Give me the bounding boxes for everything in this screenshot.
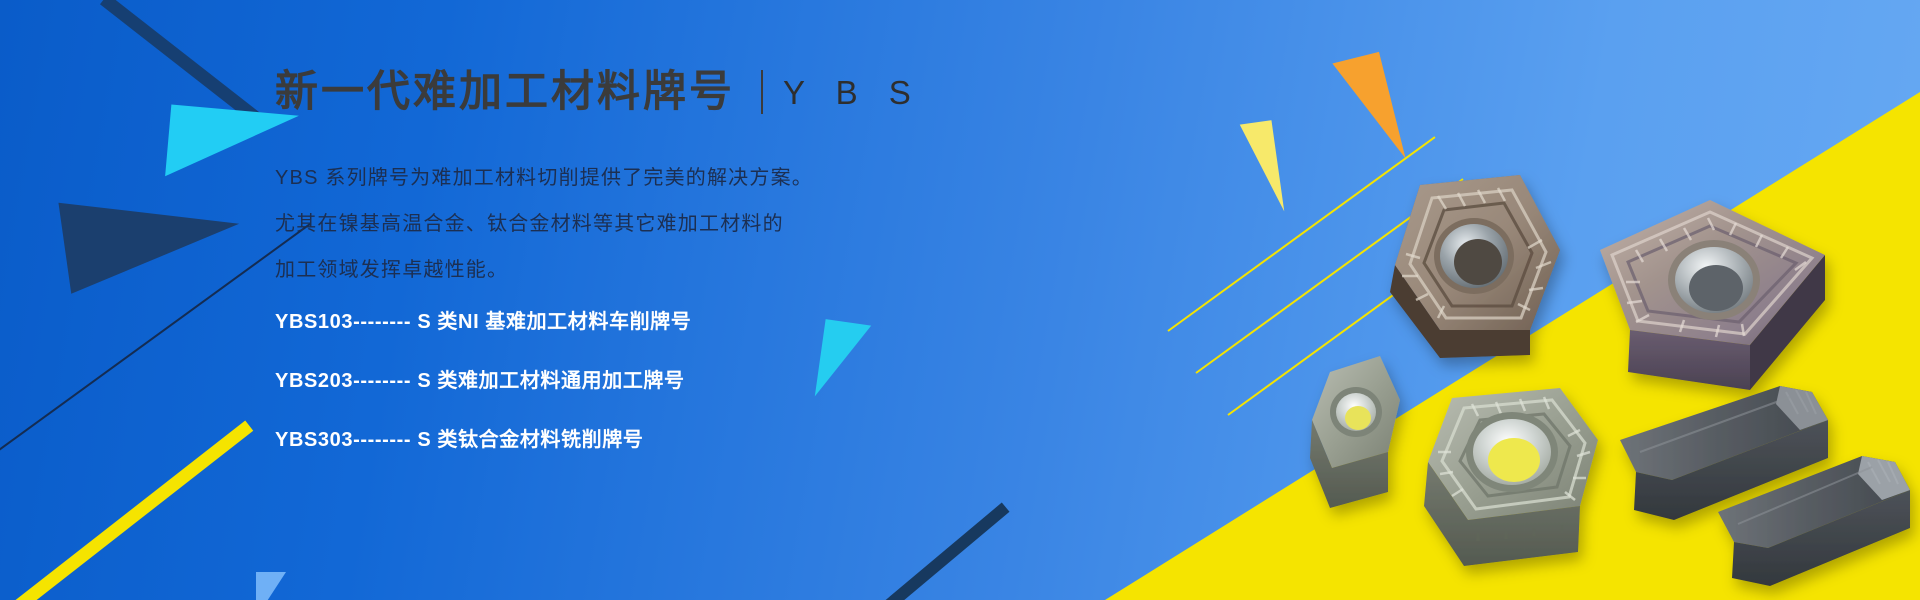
navy-triangle-left-icon — [58, 178, 245, 294]
yellow-hairline-3-icon — [1227, 238, 1471, 416]
pale-blue-sliver-bottom-left-icon — [256, 572, 286, 600]
grade-item-ybs103: YBS103-------- S 类NI 基难加工材料车削牌号 — [275, 305, 691, 334]
grade-list: YBS103-------- S 类NI 基难加工材料车削牌号 YBS203--… — [275, 305, 691, 482]
banner-paragraph: YBS 系列牌号为难加工材料切削提供了完美的解决方案。 尤其在镍基高温合金、钛合… — [275, 163, 813, 301]
navy-diagonal-bar-bottom-center-icon — [882, 503, 1009, 600]
orange-triangle-top-right-icon — [1332, 52, 1405, 170]
pale-yellow-triangle-right-icon — [1240, 120, 1284, 216]
cyan-triangle-center-icon — [815, 319, 871, 403]
promo-banner: 新一代难加工材料牌号 Y B S YBS 系列牌号为难加工材料切削提供了完美的解… — [0, 0, 1920, 600]
heading-ybs: Y B S — [783, 76, 922, 109]
banner-heading: 新一代难加工材料牌号 Y B S — [275, 70, 922, 114]
wnmg-trigon-turning-insert — [1390, 175, 1560, 358]
paragraph-line-2: 尤其在镍基高温合金、钛合金材料等其它难加工材料的 — [275, 209, 813, 239]
heading-separator-icon — [761, 70, 763, 114]
grade-item-ybs203: YBS203-------- S 类难加工材料通用加工牌号 — [275, 364, 691, 393]
paragraph-line-1: YBS 系列牌号为难加工材料切削提供了完美的解决方案。 — [275, 163, 813, 193]
yellow-diagonal-bar-left-icon — [12, 421, 253, 600]
heading-chinese: 新一代难加工材料牌号 — [275, 71, 735, 114]
grade-item-ybs303: YBS303-------- S 类钛合金材料铣削牌号 — [275, 423, 691, 452]
paragraph-line-3: 加工领域发挥卓越性能。 — [275, 255, 813, 285]
yellow-hairline-2-icon — [1195, 178, 1463, 374]
yellow-hairline-1-icon — [1167, 136, 1435, 332]
